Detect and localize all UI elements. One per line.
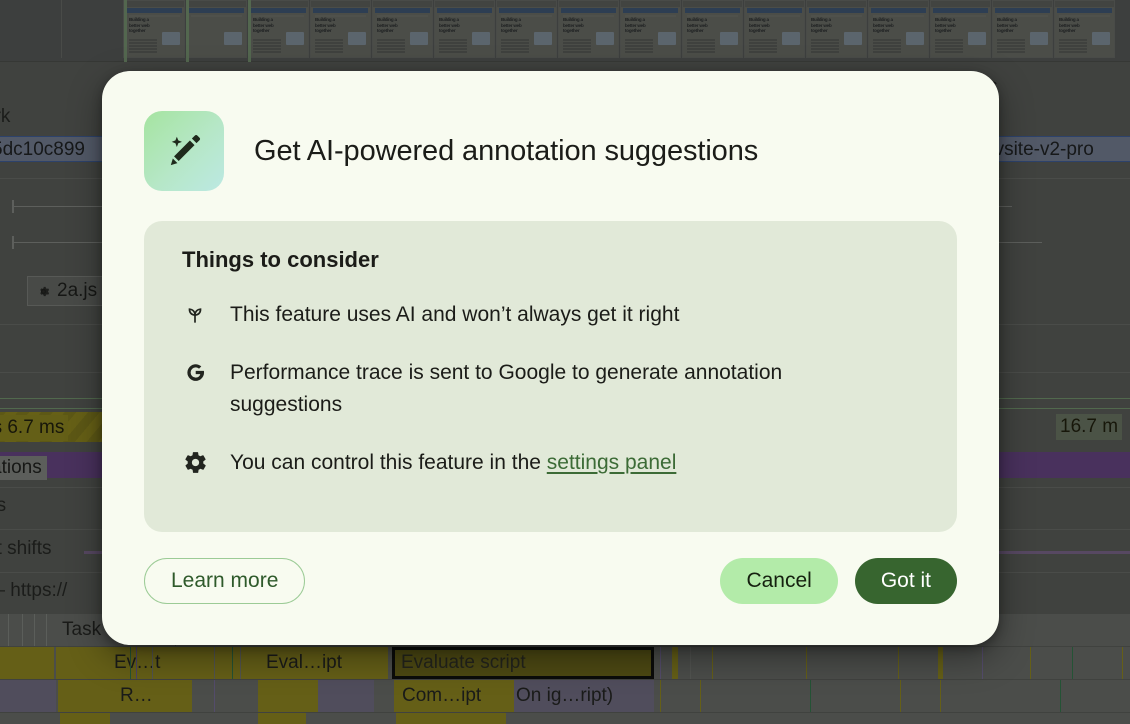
consider-item-text: Performance trace is sent to Google to g… — [230, 357, 870, 421]
consider-item-text-prefix: You can control this feature in the — [230, 451, 547, 474]
dialog-header: Get AI-powered annotation suggestions — [144, 71, 957, 191]
consider-item: This feature uses AI and won’t always ge… — [182, 299, 929, 331]
consider-item-text: This feature uses AI and won’t always ge… — [230, 299, 679, 331]
google-g-icon — [182, 357, 208, 385]
ai-annotations-consent-dialog: Get AI-powered annotation suggestions Th… — [102, 71, 999, 645]
consider-item: You can control this feature in the sett… — [182, 447, 929, 479]
sprout-icon — [182, 299, 208, 326]
dialog-action-buttons: Cancel Got it — [720, 558, 957, 604]
consider-item: Performance trace is sent to Google to g… — [182, 357, 929, 421]
gear-icon — [182, 447, 208, 475]
consider-item-text: You can control this feature in the sett… — [230, 447, 676, 479]
cancel-button[interactable]: Cancel — [720, 558, 837, 604]
ai-edit-sparkle-icon — [144, 111, 224, 191]
things-to-consider-heading: Things to consider — [182, 247, 929, 273]
dialog-footer: Learn more Cancel Got it — [144, 558, 957, 604]
got-it-button[interactable]: Got it — [855, 558, 957, 604]
settings-panel-link[interactable]: settings panel — [547, 451, 677, 474]
learn-more-button[interactable]: Learn more — [144, 558, 305, 604]
things-to-consider-card: Things to consider This feature uses AI … — [144, 221, 957, 532]
dialog-title: Get AI-powered annotation suggestions — [254, 135, 758, 168]
